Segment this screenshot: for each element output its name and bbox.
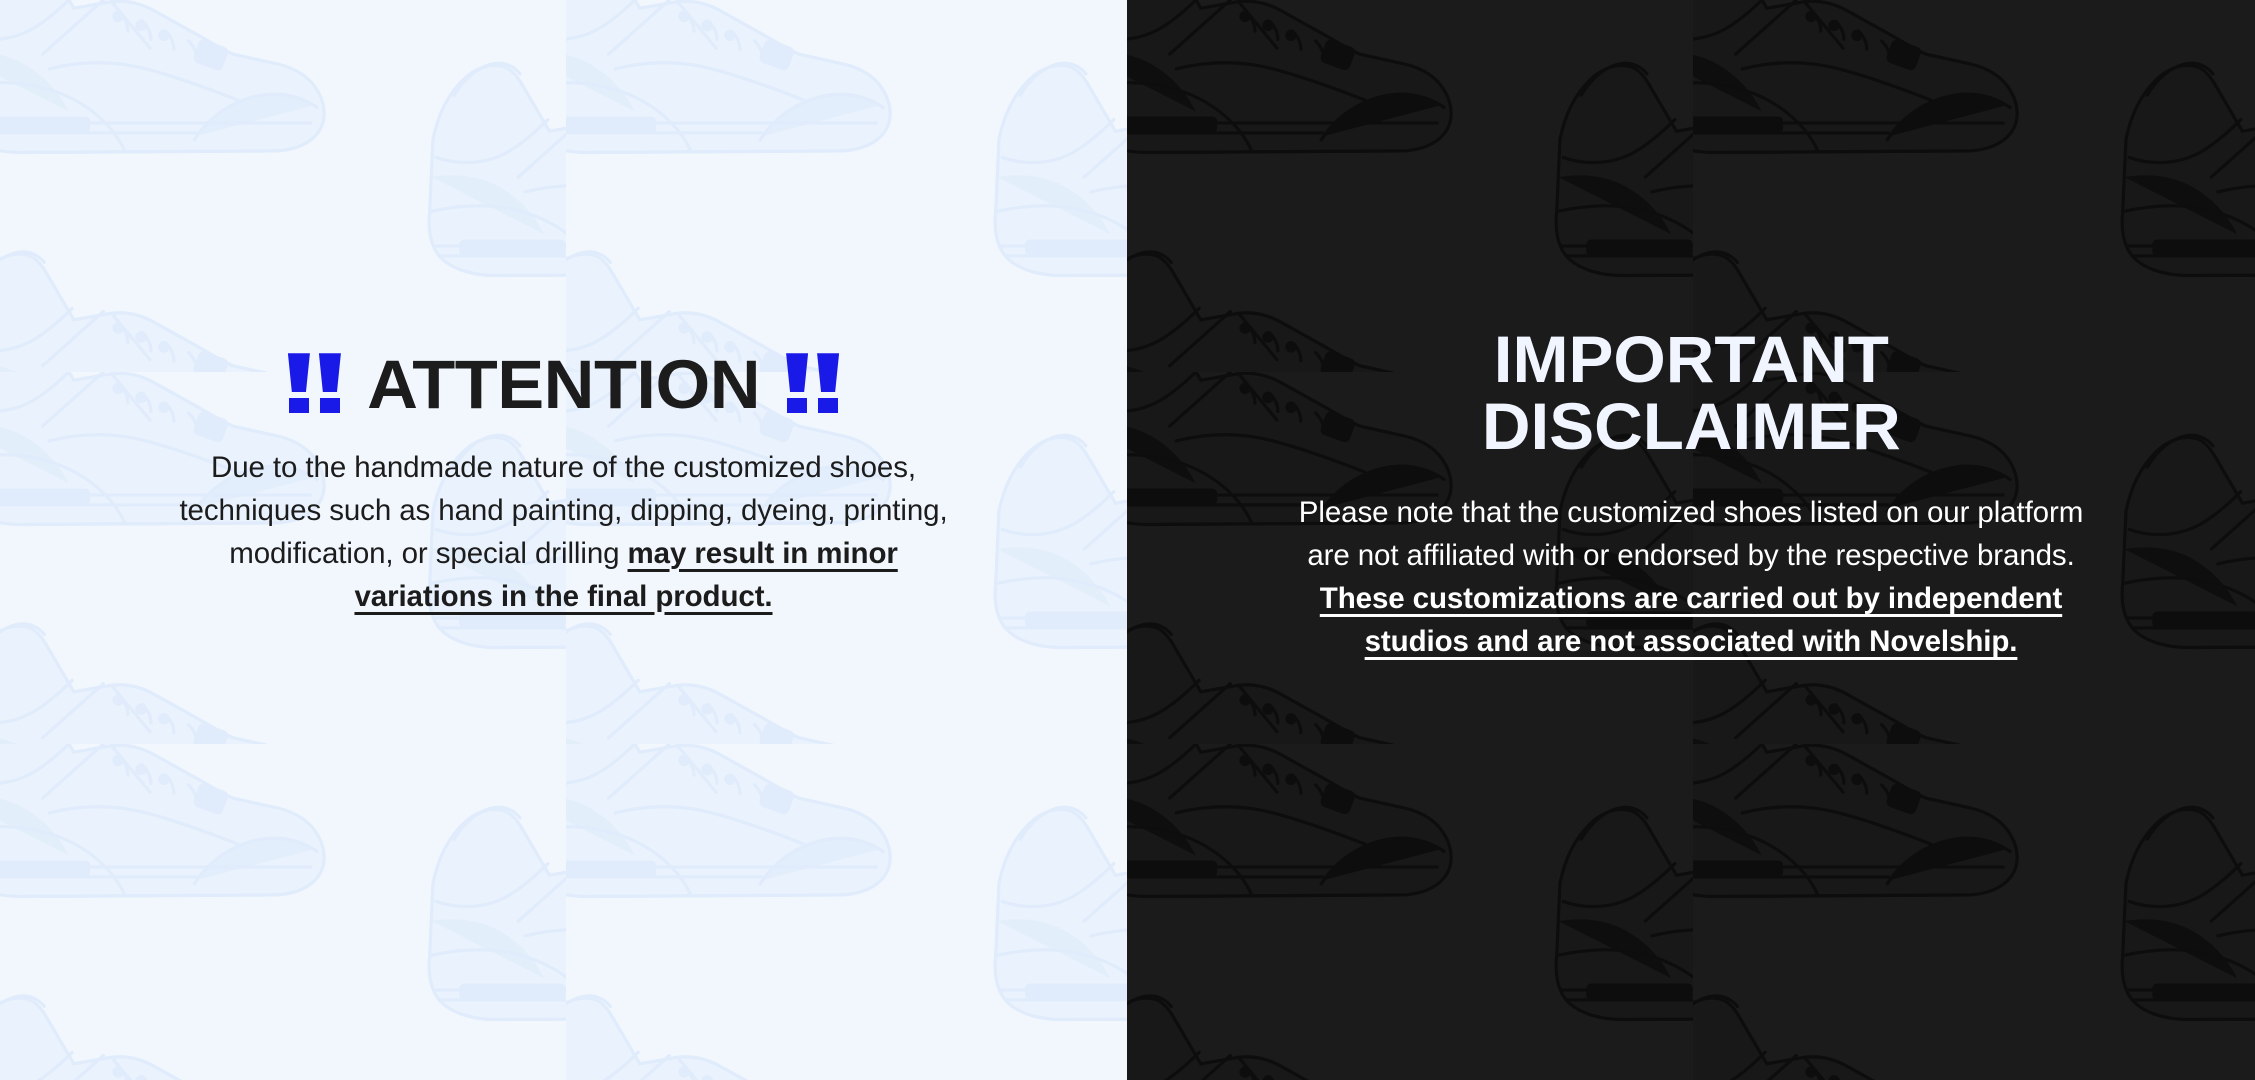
- disclaimer-heading-line1: IMPORTANT: [1493, 322, 1888, 396]
- disclaimer-body: Please note that the customized shoes li…: [1291, 491, 2091, 663]
- attention-content: ATTENTION Due to the handmade nature of …: [0, 0, 1127, 618]
- attention-heading: ATTENTION: [367, 352, 760, 418]
- attention-panel: ATTENTION Due to the handmade nature of …: [0, 0, 1127, 1080]
- double-exclamation-icon: [786, 353, 839, 416]
- customization-disclaimer-banner: ATTENTION Due to the handmade nature of …: [0, 0, 2255, 1080]
- double-exclamation-icon: [288, 353, 341, 416]
- disclaimer-body-normal: Please note that the customized shoes li…: [1299, 496, 2083, 572]
- attention-heading-row: ATTENTION: [288, 352, 839, 418]
- disclaimer-heading: IMPORTANT DISCLAIMER: [1482, 326, 1901, 461]
- disclaimer-body-emphasis: These customizations are carried out by …: [1320, 582, 2062, 658]
- attention-body: Due to the handmade nature of the custom…: [179, 446, 949, 618]
- disclaimer-heading-line2: DISCLAIMER: [1482, 389, 1901, 463]
- disclaimer-panel: IMPORTANT DISCLAIMER Please note that th…: [1127, 0, 2255, 1080]
- disclaimer-content: IMPORTANT DISCLAIMER Please note that th…: [1127, 0, 2255, 663]
